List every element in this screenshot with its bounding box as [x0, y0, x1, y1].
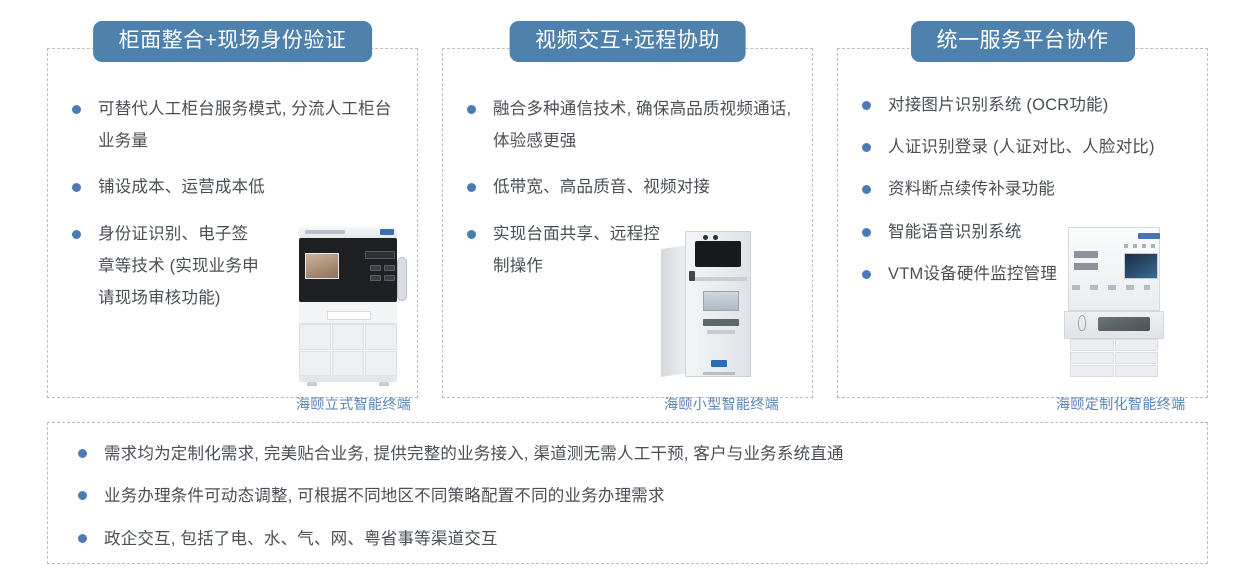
bullet-list-1: 可替代人工柜台服务模式, 分流人工柜台业务量 铺设成本、运营成本低 身份证识别、…: [64, 93, 403, 314]
feature-panel-1: 柜面整合+现场身份验证 可替代人工柜台服务模式, 分流人工柜台业务量 铺设成本、…: [47, 48, 418, 398]
list-item: 低带宽、高品质音、视频对接: [459, 171, 798, 203]
feature-panel-3: 统一服务平台协作 对接图片识别系统 (OCR功能) 人证识别登录 (人证对比、人…: [837, 48, 1208, 398]
bullet-dot-icon: [467, 230, 476, 239]
slide-canvas: 柜面整合+现场身份验证 可替代人工柜台服务模式, 分流人工柜台业务量 铺设成本、…: [0, 0, 1241, 586]
list-item: 可替代人工柜台服务模式, 分流人工柜台业务量: [64, 93, 403, 157]
list-item: 铺设成本、运营成本低: [64, 171, 403, 203]
list-item: 身份证识别、电子签章等技术 (实现业务申请现场审核功能): [64, 218, 264, 315]
bullet-text: 智能语音识别系统: [888, 223, 1022, 241]
bullet-dot-icon: [862, 270, 871, 279]
bullet-dot-icon: [78, 534, 87, 543]
summary-bullet-list: 需求均为定制化需求, 完美贴合业务, 提供完整的业务接入, 渠道测无需人工干预,…: [70, 441, 1187, 552]
list-item: 政企交互, 包括了电、水、气、网、粤省事等渠道交互: [70, 526, 1187, 552]
bullet-text: VTM设备硬件监控管理: [888, 265, 1057, 283]
panel-body-2: 融合多种通信技术, 确保高品质视频通话, 体验感更强 低带宽、高品质音、视频对接…: [443, 49, 812, 397]
bullet-dot-icon: [72, 183, 81, 192]
list-item: 实现台面共享、远程控制操作: [459, 218, 674, 282]
bullet-text: 铺设成本、运营成本低: [98, 178, 265, 196]
bullet-text: 政企交互, 包括了电、水、气、网、粤省事等渠道交互: [104, 530, 498, 548]
device-caption-2: 海颐小型智能终端: [664, 394, 779, 414]
list-item: 业务办理条件可动态调整, 可根据不同地区不同策略配置不同的业务办理需求: [70, 483, 1187, 509]
bullet-dot-icon: [862, 185, 871, 194]
bullet-dot-icon: [78, 449, 87, 458]
bullet-dot-icon: [72, 105, 81, 114]
summary-panel: 需求均为定制化需求, 完美贴合业务, 提供完整的业务接入, 渠道测无需人工干预,…: [47, 422, 1208, 564]
list-item: 智能语音识别系统: [854, 216, 1069, 248]
device-caption-3: 海颐定制化智能终端: [1056, 394, 1186, 414]
bullet-text: 身份证识别、电子签章等技术 (实现业务申请现场审核功能): [98, 225, 259, 307]
list-item: 融合多种通信技术, 确保高品质视频通话, 体验感更强: [459, 93, 798, 157]
bullet-text: 对接图片识别系统 (OCR功能): [888, 96, 1108, 114]
bullet-text: 低带宽、高品质音、视频对接: [493, 178, 710, 196]
bullet-text: 资料断点续传补录功能: [888, 180, 1055, 198]
bullet-dot-icon: [862, 101, 871, 110]
list-item: VTM设备硬件监控管理: [854, 258, 1069, 290]
bullet-text: 融合多种通信技术, 确保高品质视频通话, 体验感更强: [493, 100, 791, 150]
bullet-dot-icon: [78, 491, 87, 500]
bullet-text: 人证识别登录 (人证对比、人脸对比): [888, 138, 1155, 156]
bullet-dot-icon: [467, 105, 476, 114]
feature-panel-2: 视频交互+远程协助 融合多种通信技术, 确保高品质视频通话, 体验感更强 低带宽…: [442, 48, 813, 398]
feature-columns: 柜面整合+现场身份验证 可替代人工柜台服务模式, 分流人工柜台业务量 铺设成本、…: [47, 48, 1208, 398]
list-item: 需求均为定制化需求, 完美贴合业务, 提供完整的业务接入, 渠道测无需人工干预,…: [70, 441, 1187, 467]
device-caption-1: 海颐立式智能终端: [296, 394, 411, 414]
bullet-dot-icon: [862, 143, 871, 152]
panel-body-3: 对接图片识别系统 (OCR功能) 人证识别登录 (人证对比、人脸对比) 资料断点…: [838, 49, 1207, 397]
bullet-text: 业务办理条件可动态调整, 可根据不同地区不同策略配置不同的业务办理需求: [104, 487, 665, 505]
bullet-list-2: 融合多种通信技术, 确保高品质视频通话, 体验感更强 低带宽、高品质音、视频对接…: [459, 93, 798, 282]
list-item: 资料断点续传补录功能: [854, 173, 1069, 205]
bullet-dot-icon: [467, 183, 476, 192]
list-item: 对接图片识别系统 (OCR功能): [854, 89, 1193, 121]
bullet-text: 实现台面共享、远程控制操作: [493, 225, 660, 275]
bullet-text: 需求均为定制化需求, 完美贴合业务, 提供完整的业务接入, 渠道测无需人工干预,…: [104, 445, 844, 463]
list-item: 人证识别登录 (人证对比、人脸对比): [854, 131, 1193, 163]
bullet-text: 可替代人工柜台服务模式, 分流人工柜台业务量: [98, 100, 391, 150]
bullet-list-3: 对接图片识别系统 (OCR功能) 人证识别登录 (人证对比、人脸对比) 资料断点…: [854, 89, 1193, 290]
bullet-dot-icon: [72, 230, 81, 239]
panel-body-1: 可替代人工柜台服务模式, 分流人工柜台业务量 铺设成本、运营成本低 身份证识别、…: [48, 49, 417, 397]
bullet-dot-icon: [862, 228, 871, 237]
